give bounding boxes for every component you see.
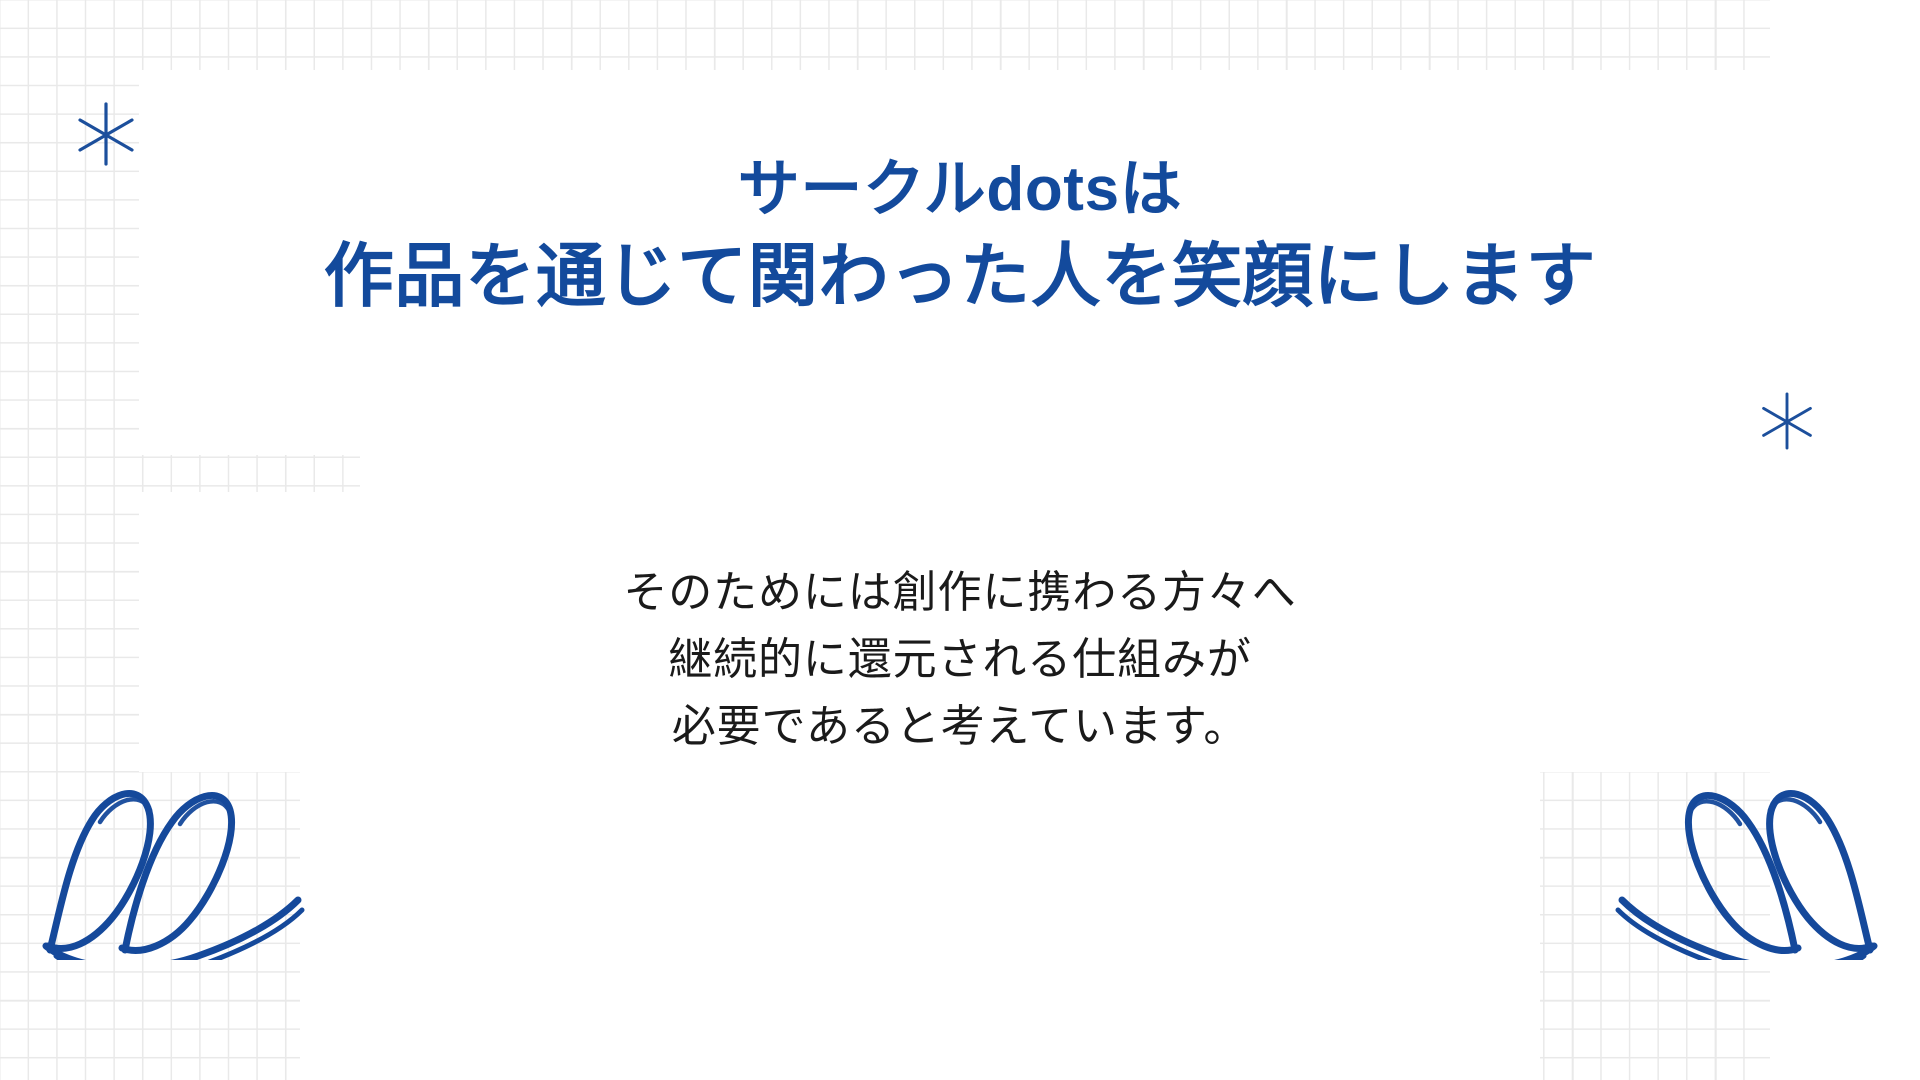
slide-body-text: そのためには創作に携わる方々へ 継続的に還元される仕組みが 必要であると考えてい… bbox=[0, 560, 1920, 761]
panel-lower-white-fill bbox=[300, 770, 1540, 1080]
title-line-2: 作品を通じて関わった人を笑顔にします bbox=[0, 231, 1920, 322]
cursive-loop-flourish-right bbox=[1560, 760, 1890, 960]
title-line-1: サークルdotsは bbox=[0, 150, 1920, 231]
sparkle-icon bbox=[76, 100, 136, 168]
body-line-1: そのためには創作に携わる方々へ bbox=[0, 560, 1920, 627]
sparkle-icon bbox=[1760, 390, 1814, 452]
panel-mid-fill bbox=[360, 455, 1540, 495]
cursive-loop-flourish-left bbox=[30, 760, 360, 960]
body-line-2: 継続的に還元される仕組みが bbox=[0, 627, 1920, 694]
slide-title: サークルdotsは 作品を通じて関わった人を笑顔にします bbox=[0, 150, 1920, 322]
body-line-3: 必要であると考えています。 bbox=[0, 694, 1920, 761]
slide-canvas: サークルdotsは 作品を通じて関わった人を笑顔にします そのためには創作に携わ… bbox=[0, 0, 1920, 1080]
